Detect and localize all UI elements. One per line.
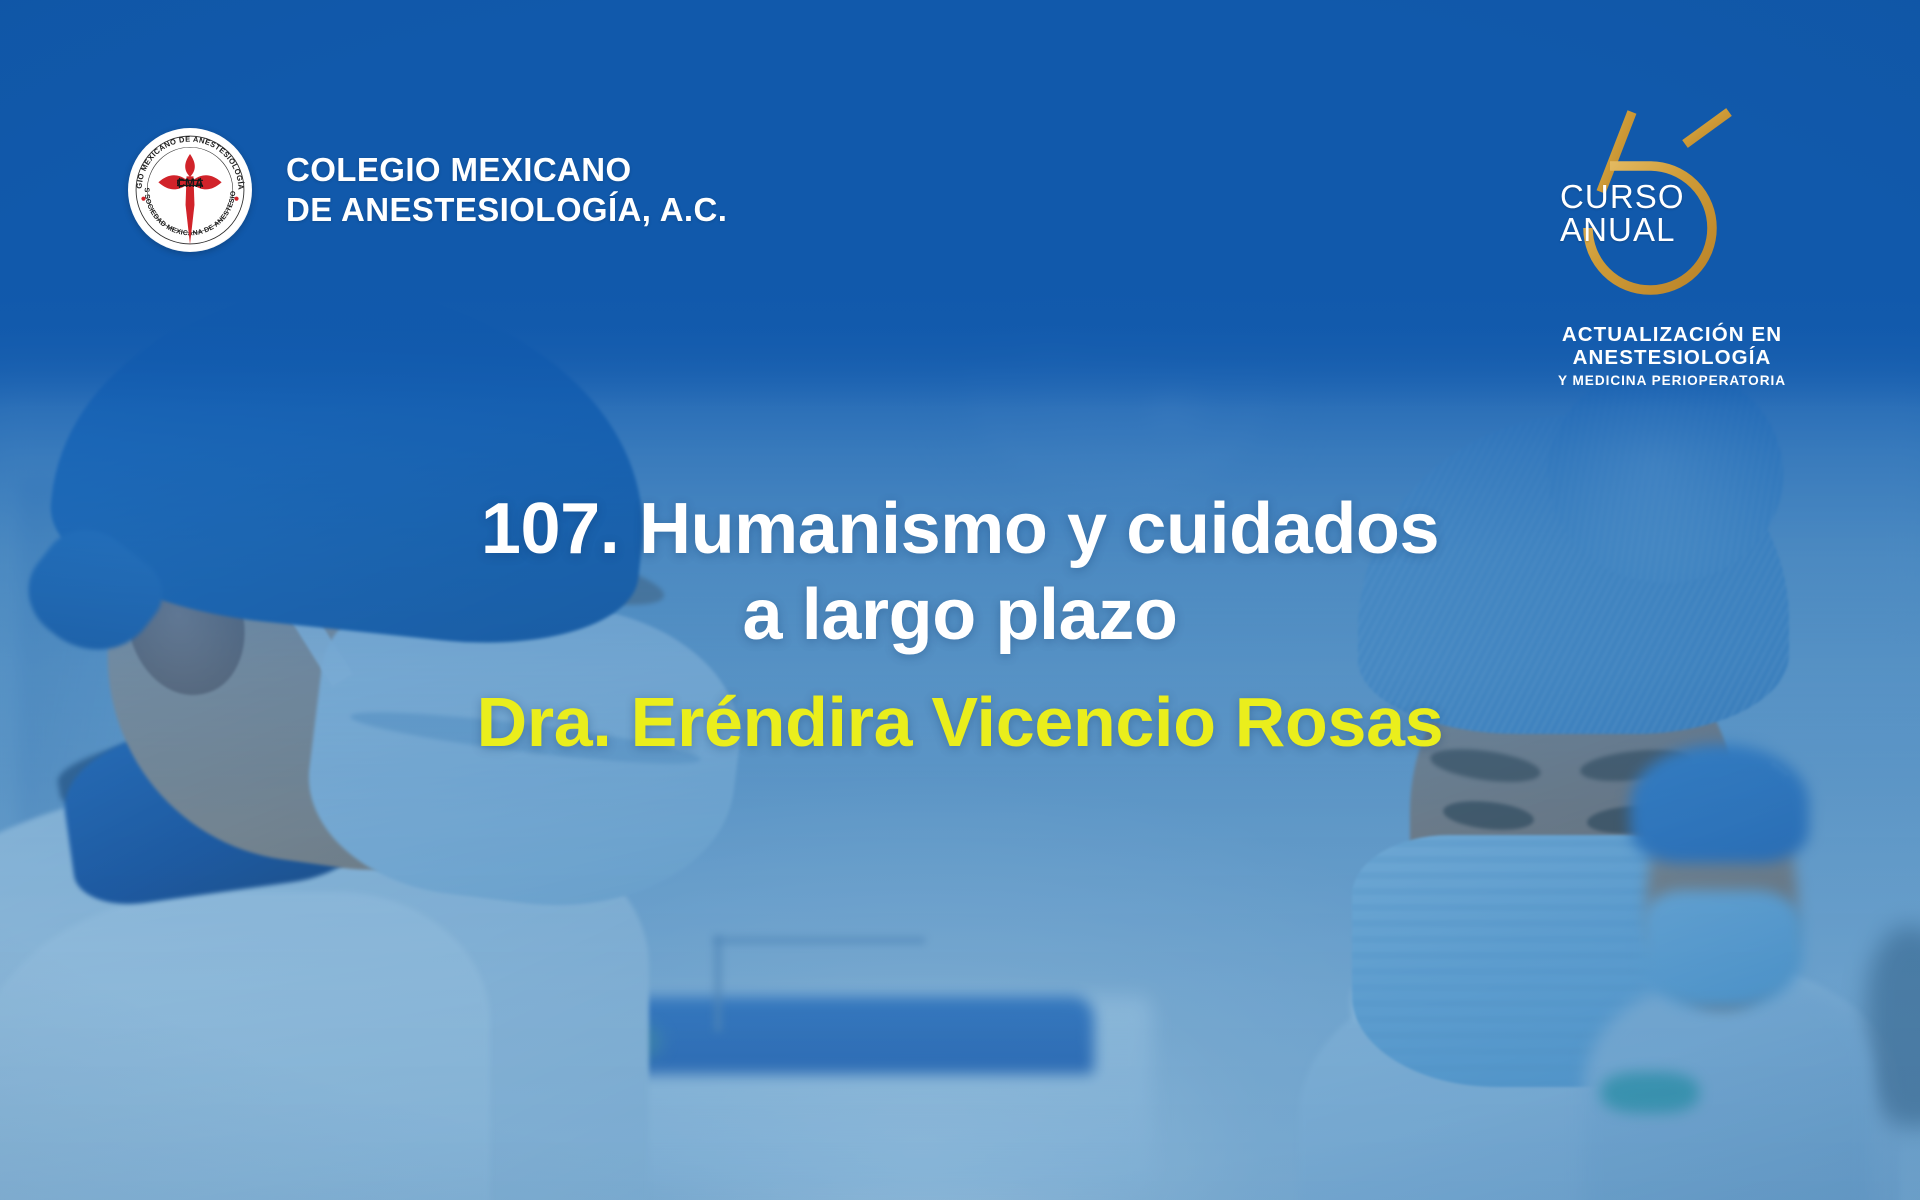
presentation-slide: COLEGIO MEXICANO DE ANESTESIOLOGÍA A. C.… (0, 0, 1920, 1200)
seal-monogram: CMA (176, 176, 203, 190)
curso-anual-51-logo: CURSO ANUAL (1554, 100, 1790, 318)
logo-subtitle-line2: ANESTESIOLOGÍA (1558, 347, 1786, 370)
logo-subtitle-line3: Y MEDICINA PERIOPERATORIA (1558, 373, 1786, 388)
header-right-branding: CURSO ANUAL ACTUALIZACIÓN EN ANESTESIOLO… (1542, 100, 1802, 388)
organization-name: COLEGIO MEXICANO DE ANESTESIOLOGÍA, A.C. (286, 150, 727, 231)
header-left-branding: COLEGIO MEXICANO DE ANESTESIOLOGÍA A. C.… (128, 128, 727, 252)
speaker-name: Dra. Eréndira Vicencio Rosas (120, 681, 1800, 764)
cma-seal-logo: COLEGIO MEXICANO DE ANESTESIOLOGÍA A. C.… (128, 128, 252, 252)
numeral-one (1685, 112, 1776, 228)
logo-subtitle-line1: ACTUALIZACIÓN EN (1558, 324, 1786, 347)
lecture-title: 107. Humanismo y cuidados a largo plazo (120, 486, 1800, 659)
slide-title-block: 107. Humanismo y cuidados a largo plazo … (0, 486, 1920, 763)
course-label: CURSO ANUAL (1560, 180, 1685, 246)
logo-subtitle: ACTUALIZACIÓN EN ANESTESIOLOGÍA Y MEDICI… (1558, 324, 1786, 388)
